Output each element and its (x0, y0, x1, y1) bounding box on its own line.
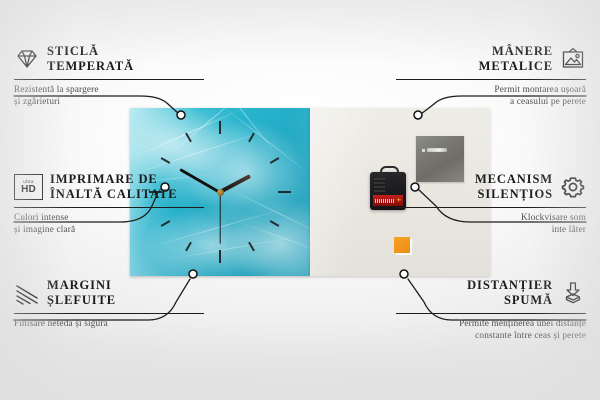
movement-vent (374, 178, 385, 192)
hanger-slot (427, 148, 447, 152)
callout-divider (14, 313, 204, 314)
callout-divider (396, 79, 586, 80)
picture-frame-icon (560, 47, 586, 71)
callout-tempered-glass: STICLĂ TEMPERATĂ Rezistentă la spargere … (14, 44, 204, 109)
battery-label (375, 199, 395, 203)
callout-header: ultra HD IMPRIMARE DE ÎNALTĂ CALITATE (14, 172, 204, 203)
callout-title: IMPRIMARE DE ÎNALTĂ CALITATE (50, 172, 178, 203)
hanger-slot-dot (422, 149, 425, 152)
callout-divider (396, 207, 586, 208)
callout-silent-mechanism: MECANISM SILENȚIOS Klockvisare som inte … (396, 172, 586, 237)
callout-title: MARGINI ȘLEFUITE (47, 278, 116, 309)
diagonal-lines-icon (14, 281, 40, 305)
callout-subtitle: Finisare netedă și sigură (14, 318, 204, 331)
callout-header: DISTANȚIER SPUMĂ (396, 278, 586, 309)
callout-polished-edges: MARGINI ȘLEFUITE Finisare netedă și sigu… (14, 278, 204, 330)
ultra-hd-icon: ultra HD (14, 174, 43, 200)
callout-subtitle: Permite menținerea unei distanțe constan… (396, 318, 586, 343)
callout-title: DISTANȚIER SPUMĂ (467, 278, 553, 309)
callout-metal-hangers: MÂNERE METALICE Permit montarea ușoară a… (396, 44, 586, 109)
callout-divider (14, 79, 204, 80)
callout-title: STICLĂ TEMPERATĂ (47, 44, 134, 75)
callout-divider (14, 207, 204, 208)
callout-subtitle: Klockvisare som inte låter (396, 212, 586, 237)
gear-icon (560, 175, 586, 199)
callout-divider (396, 313, 586, 314)
callout-foam-spacer: DISTANȚIER SPUMĂ Permite menținerea unei… (396, 278, 586, 343)
callout-subtitle: Rezistentă la spargere și zgârieturi (14, 84, 204, 109)
clock-hour-hand (219, 174, 251, 193)
callout-subtitle: Culori intense și imagine clară (14, 212, 204, 237)
foam-spacer (394, 237, 410, 253)
callout-high-quality-print: ultra HD IMPRIMARE DE ÎNALTĂ CALITATE Cu… (14, 172, 204, 237)
callout-header: MÂNERE METALICE (396, 44, 586, 75)
callout-subtitle: Permit montarea ușoară a ceasului pe per… (396, 84, 586, 109)
infographic-canvas: + (0, 0, 600, 400)
diamond-icon (14, 47, 40, 71)
callout-header: MECANISM SILENȚIOS (396, 172, 586, 203)
callout-title: MECANISM SILENȚIOS (475, 172, 553, 203)
callout-header: STICLĂ TEMPERATĂ (14, 44, 204, 75)
clock-second-hand (219, 192, 220, 244)
down-arrow-stack-icon (560, 281, 586, 305)
clock-center-cap (217, 189, 224, 196)
callout-title: MÂNERE METALICE (479, 44, 553, 75)
callout-header: MARGINI ȘLEFUITE (14, 278, 204, 309)
